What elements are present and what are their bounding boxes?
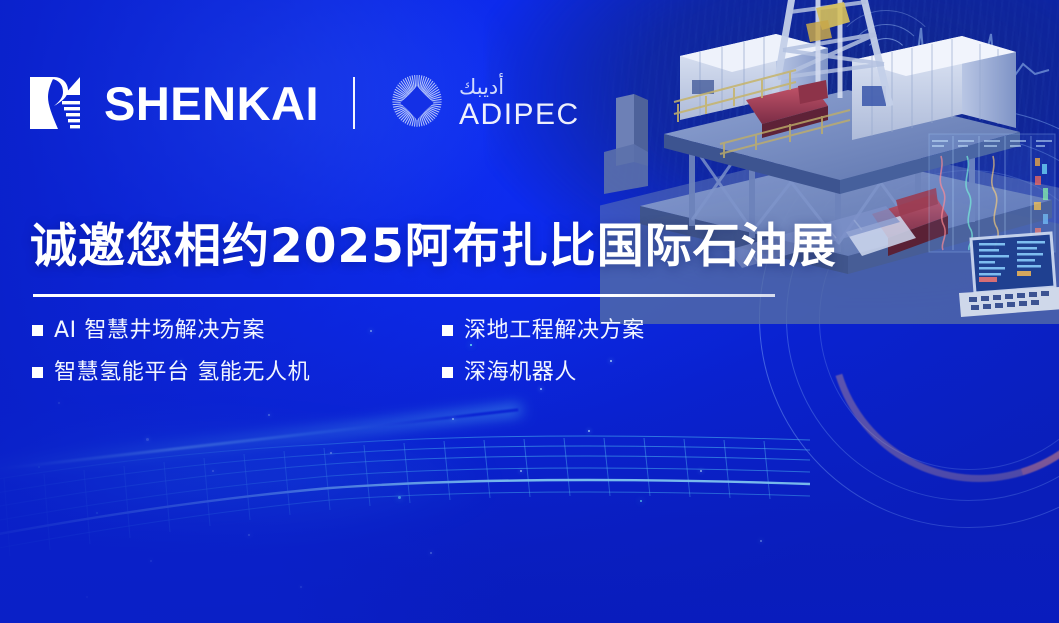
feature-list: AI 智慧井场解决方案 深地工程解决方案 智慧氢能平台 氢能无人机 深海机器人	[32, 314, 752, 398]
adipec-english-text: ADIPEC	[459, 100, 580, 130]
logo-lockup: SHENKAI	[28, 62, 580, 144]
shenkai-wordmark: SHENKAI	[104, 80, 319, 127]
feature-label: 智慧氢能平台 氢能无人机	[54, 356, 310, 389]
banner-headline: 诚邀您相约2025阿布扎比国际石油展	[30, 222, 837, 272]
feature-item: AI 智慧井场解决方案	[32, 314, 442, 347]
bullet-square-icon	[442, 367, 453, 378]
feature-item: 深海机器人	[442, 356, 577, 389]
shenkai-logo-mark	[28, 75, 84, 131]
headline-divider	[33, 294, 775, 297]
logo-divider	[353, 77, 355, 129]
feature-row: 智慧氢能平台 氢能无人机 深海机器人	[32, 356, 752, 389]
bullet-square-icon	[32, 367, 43, 378]
adipec-logo: أديبك ADIPEC	[387, 73, 580, 133]
feature-row: AI 智慧井场解决方案 深地工程解决方案	[32, 314, 752, 347]
feature-item: 智慧氢能平台 氢能无人机	[32, 356, 442, 389]
banner-content: SHENKAI	[0, 0, 1059, 623]
feature-label: AI 智慧井场解决方案	[54, 314, 265, 347]
bullet-square-icon	[32, 325, 43, 336]
feature-item: 深地工程解决方案	[442, 314, 645, 347]
feature-label: 深海机器人	[464, 356, 577, 389]
adipec-wordmark: أديبك ADIPEC	[459, 77, 580, 130]
promo-banner: SHENKAI	[0, 0, 1059, 623]
adipec-arabic-text: أديبك	[459, 77, 504, 98]
bullet-square-icon	[442, 325, 453, 336]
adipec-sunburst-icon	[387, 73, 447, 133]
feature-label: 深地工程解决方案	[464, 314, 645, 347]
